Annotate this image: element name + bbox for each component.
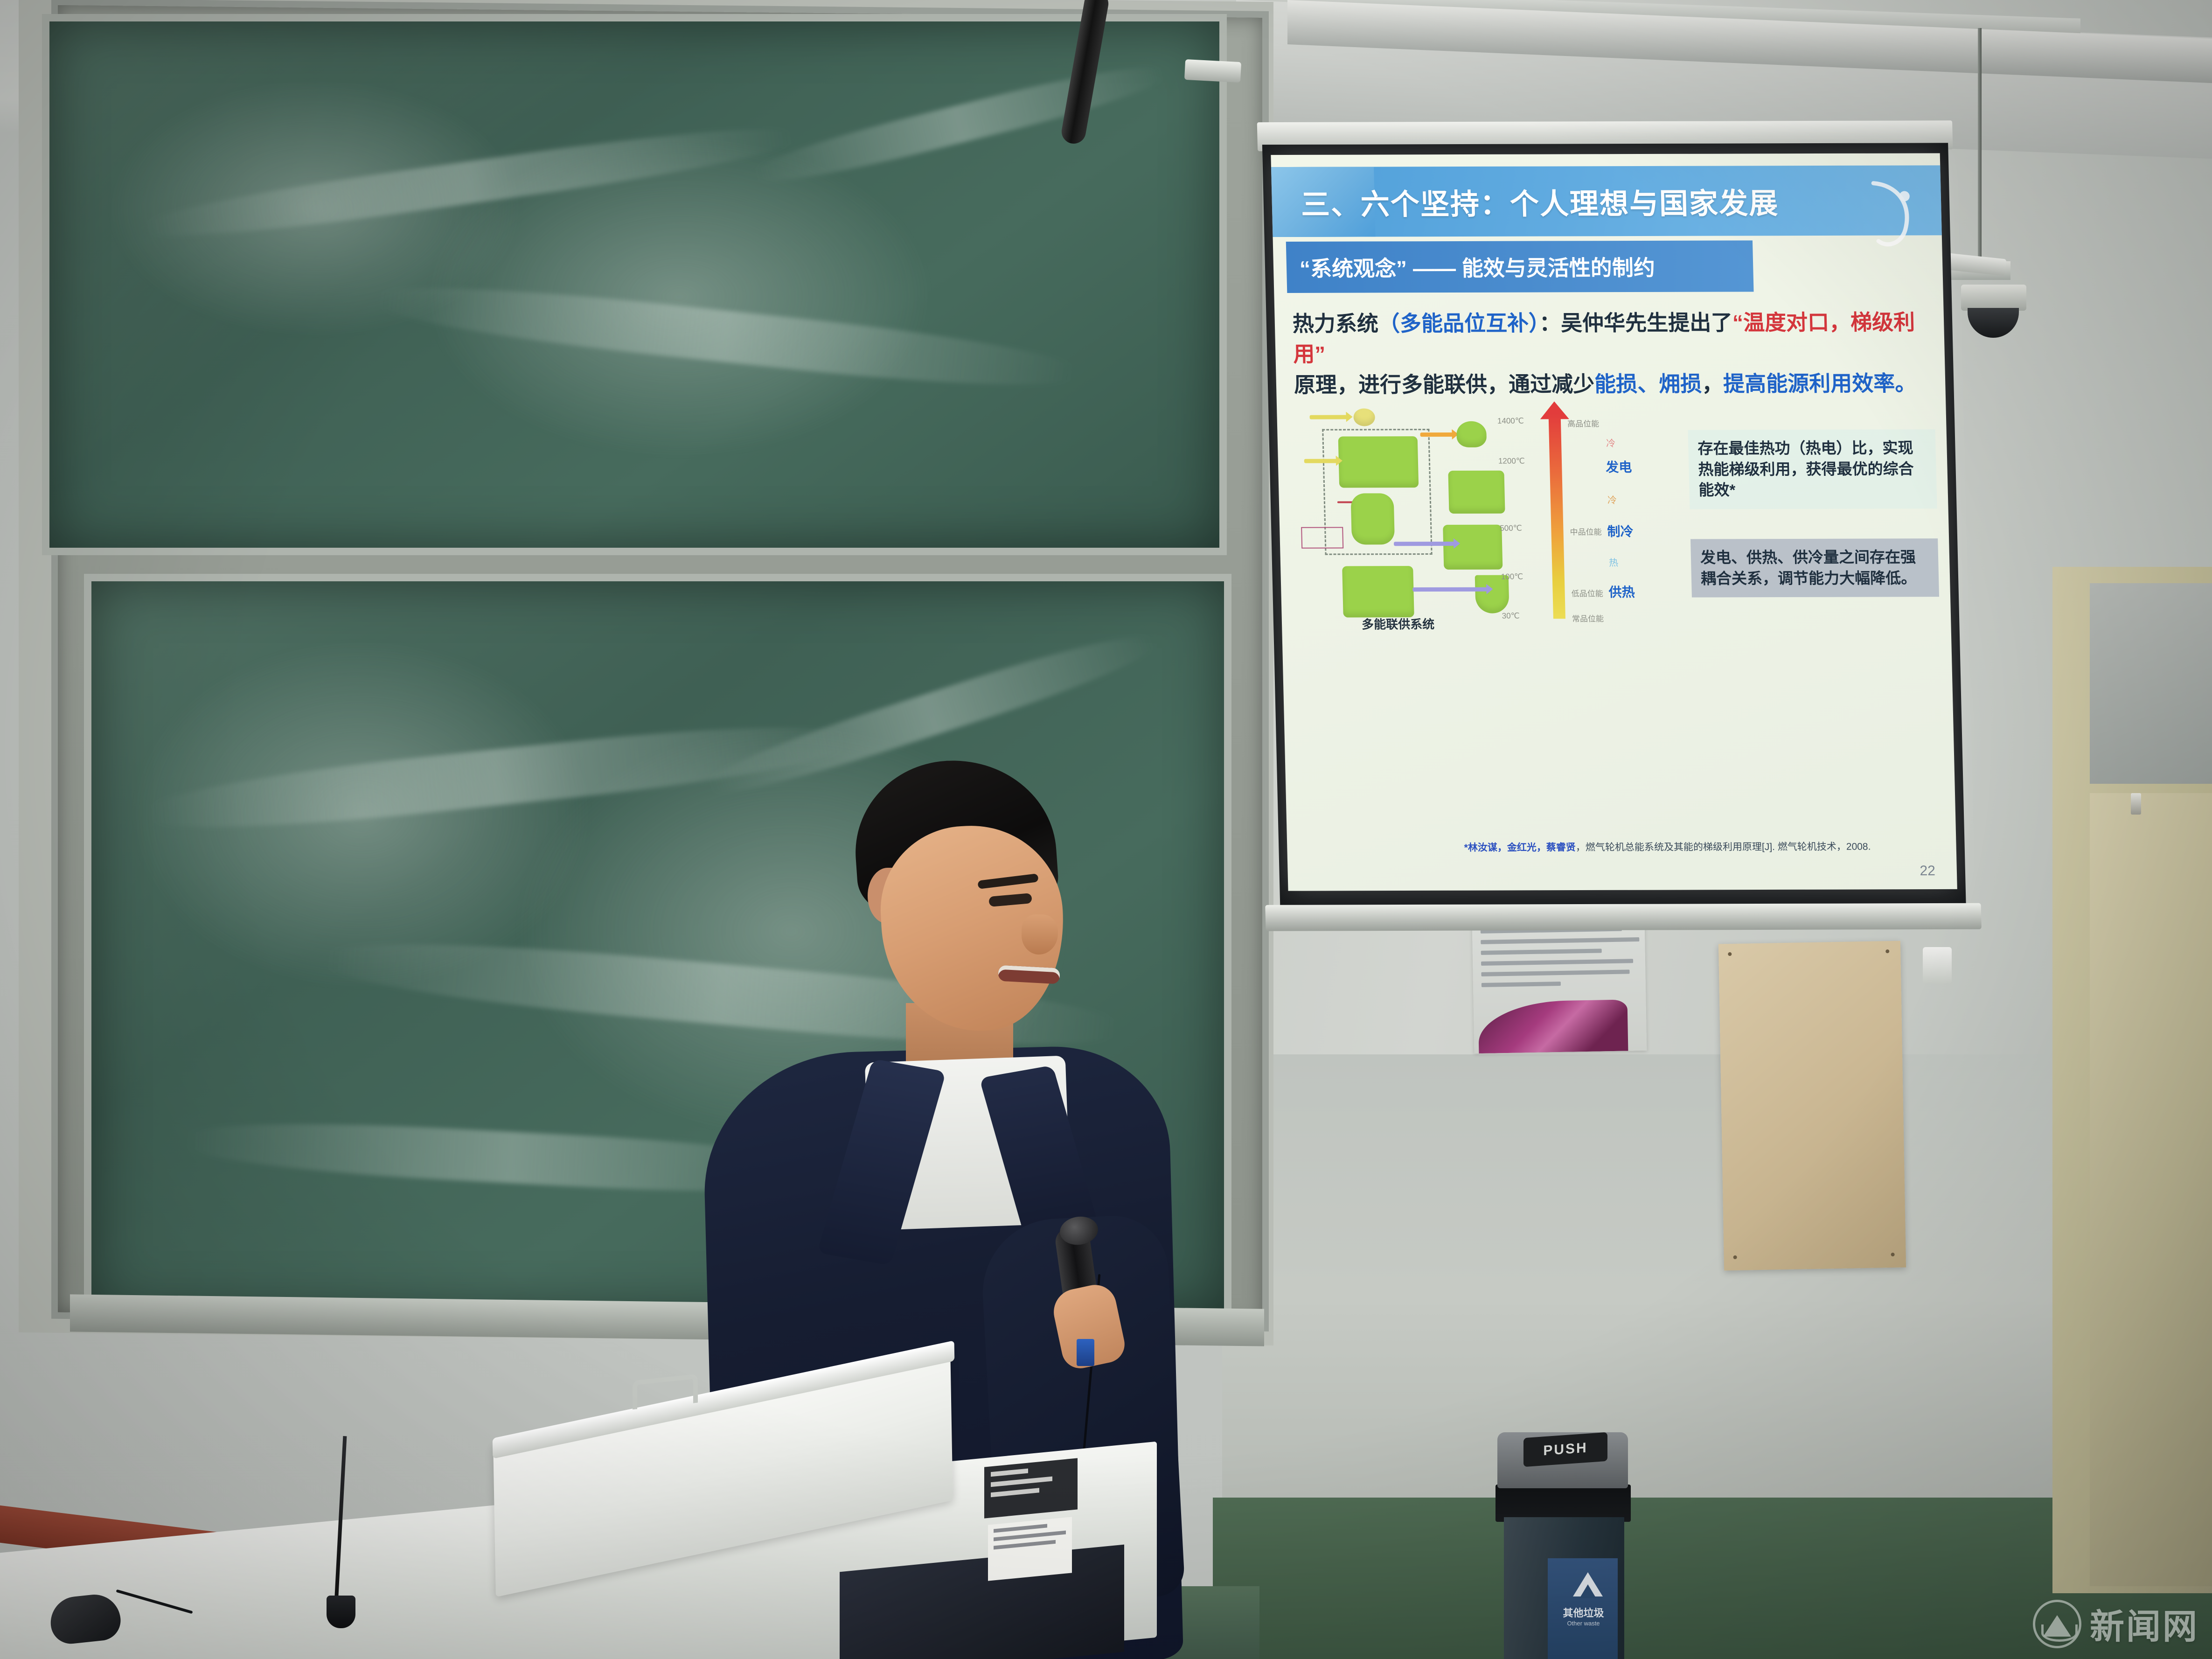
door-hinge (2131, 793, 2141, 815)
door-glass-panel (2090, 583, 2212, 784)
slide-title: 三、六个坚持：个人理想与国家发展 (1272, 180, 1779, 223)
lectern-port-panel (984, 1458, 1078, 1518)
presentation-slide: 三、六个坚持：个人理想与国家发展 “系统观念” —— 能效与灵活性的制约 热力系… (1271, 153, 1957, 891)
push-label: PUSH (1523, 1432, 1607, 1467)
trash-bin[interactable]: PUSH 其他垃圾 Other waste (1493, 1432, 1633, 1659)
body-line2-blue1: 能损、㶲损 (1594, 371, 1702, 396)
callout-strong-coupling: 发电、供热、供冷量之间存在强耦合关系，调节能力大幅降低。 (1690, 538, 1939, 597)
mini-label-2: 热 (1609, 555, 1619, 569)
temp-gradient-bar (1549, 413, 1565, 619)
wall-power-socket[interactable] (1923, 947, 1952, 983)
body-line2-a: 原理，进行多能联供，通过减少 (1294, 372, 1594, 397)
temp-tick-2: 500℃ (1500, 524, 1522, 533)
watermark: 新闻网 (2033, 1599, 2199, 1649)
lectern-podium[interactable] (383, 1381, 1157, 1659)
temp-tick-3: 100℃ (1501, 572, 1523, 581)
recycle-triangle-inner (1579, 1584, 1596, 1598)
callout-b-p2: 强 (1900, 548, 1916, 565)
waste-category-label: 其他垃圾 Other waste (1550, 1605, 1617, 1627)
callout-b-p3: 耦合关系 (1701, 570, 1763, 587)
slide-title-bar: 三、六个坚持：个人理想与国家发展 (1271, 165, 1942, 237)
mini-label-0: 冷 (1606, 436, 1616, 449)
temp-tick-0: 1400℃ (1497, 417, 1524, 426)
waste-category-en: Other waste (1550, 1620, 1617, 1627)
screen-bottom-weight-bar (1265, 903, 1982, 931)
energy-use-0: 发电 (1606, 457, 1632, 476)
antenna-base (327, 1596, 355, 1628)
callout-b-p1: 发电、供热、供冷量之间存在 (1700, 548, 1901, 566)
callout-a-p2: 最佳热功 (1728, 439, 1790, 457)
callout-a-p5: 能梯级利用， (1713, 460, 1806, 478)
body-line2-b: ， (1702, 371, 1724, 396)
grade-label-2: 低品位能 (1571, 587, 1603, 599)
callout-a-p3: （热电） (1790, 439, 1852, 457)
citation-reference: ，燃气轮机总能系统及其能的梯级利用原理[J]. 燃气轮机技术，2008. (1576, 841, 1871, 853)
trash-bin-lid[interactable]: PUSH (1497, 1432, 1628, 1488)
projection-screen[interactable]: 三、六个坚持：个人理想与国家发展 “系统观念” —— 能效与灵活性的制约 热力系… (1257, 120, 1971, 920)
watermark-text: 新闻网 (2090, 1599, 2199, 1649)
callout-b-p5: 调节能力大幅降低。 (1778, 569, 1917, 587)
slide-body-text: 热力系统（多能品位互补）：吴仲华先生提出了“温度对口，梯级利用” 原理，进行多能… (1292, 307, 1929, 400)
slide-citation: *林汝谋，金红光，蔡睿贤，燃气轮机总能系统及其能的梯级利用原理[J]. 燃气轮机… (1399, 839, 1936, 854)
callout-a-p1: 存在 (1697, 439, 1729, 457)
energy-grade-temperature-scale: 1400℃ 1200℃ 500℃ 100℃ 30℃ 高品位能 中品位能 低品位能… (1493, 401, 1639, 635)
speaker-badge (1077, 1339, 1094, 1366)
body-lead-blue: （多能品位互补） (1378, 311, 1539, 336)
grade-label-3: 常品位能 (1572, 612, 1604, 624)
waste-category-cn: 其他垃圾 (1563, 1607, 1604, 1619)
body-lead-tail: ：吴仲华先生提出了 (1539, 310, 1732, 335)
figure-caption: 多能联供系统 (1298, 615, 1499, 633)
camera-base (1961, 285, 2026, 311)
body-lead-black: 热力系统 (1292, 311, 1378, 335)
body-line2-blue2: 提高能源利用效率。 (1723, 371, 1917, 396)
speaker-mouth (998, 965, 1060, 984)
mini-label-1: 冷 (1607, 493, 1617, 506)
lectern-asset-label (988, 1517, 1072, 1581)
screen-border: 三、六个坚持：个人理想与国家发展 “系统观念” —— 能效与灵活性的制约 热力系… (1262, 143, 1966, 909)
blackboard-panel-top[interactable] (42, 14, 1227, 555)
door-panel[interactable] (2090, 793, 2212, 1586)
citation-author-names: *林汝谋，金红光，蔡睿贤 (1464, 842, 1576, 853)
wall-poster (1472, 920, 1647, 1053)
classroom-photo-scene: 三、六个坚持：个人理想与国家发展 “系统观念” —— 能效与灵活性的制约 热力系… (0, 0, 2212, 1659)
slide-corner-logo-icon (1864, 179, 1922, 249)
energy-use-1: 制冷 (1607, 522, 1634, 540)
mic-mount-bracket (1184, 59, 1241, 83)
slide-subtitle: “系统观念” —— 能效与灵活性的制约 (1286, 251, 1655, 283)
wooden-notice-board (1718, 941, 1906, 1271)
grade-label-0: 高品位能 (1567, 417, 1600, 429)
multi-energy-process-diagram: 多能联供系统 (1293, 402, 1499, 635)
temp-tick-4: 30℃ (1502, 611, 1520, 620)
callout-optimal-heat-power-ratio: 存在最佳热功（热电）比，实现热能梯级利用，获得最优的综合能效* (1688, 429, 1937, 509)
grade-label-1: 中品位能 (1570, 525, 1602, 537)
poster-ribbon-graphic (1478, 999, 1628, 1053)
university-emblem-icon (2033, 1600, 2081, 1648)
temp-tick-1: 1200℃ (1498, 457, 1525, 466)
trash-bag-rim (1496, 1485, 1631, 1522)
slide-subtitle-bar: “系统观念” —— 能效与灵活性的制约 (1286, 240, 1754, 293)
callout-b-p4: ， (1762, 570, 1778, 587)
energy-use-2: 供热 (1608, 582, 1635, 601)
screen-hanger-rod (1978, 28, 1982, 261)
slide-page-number: 22 (1920, 863, 1935, 879)
